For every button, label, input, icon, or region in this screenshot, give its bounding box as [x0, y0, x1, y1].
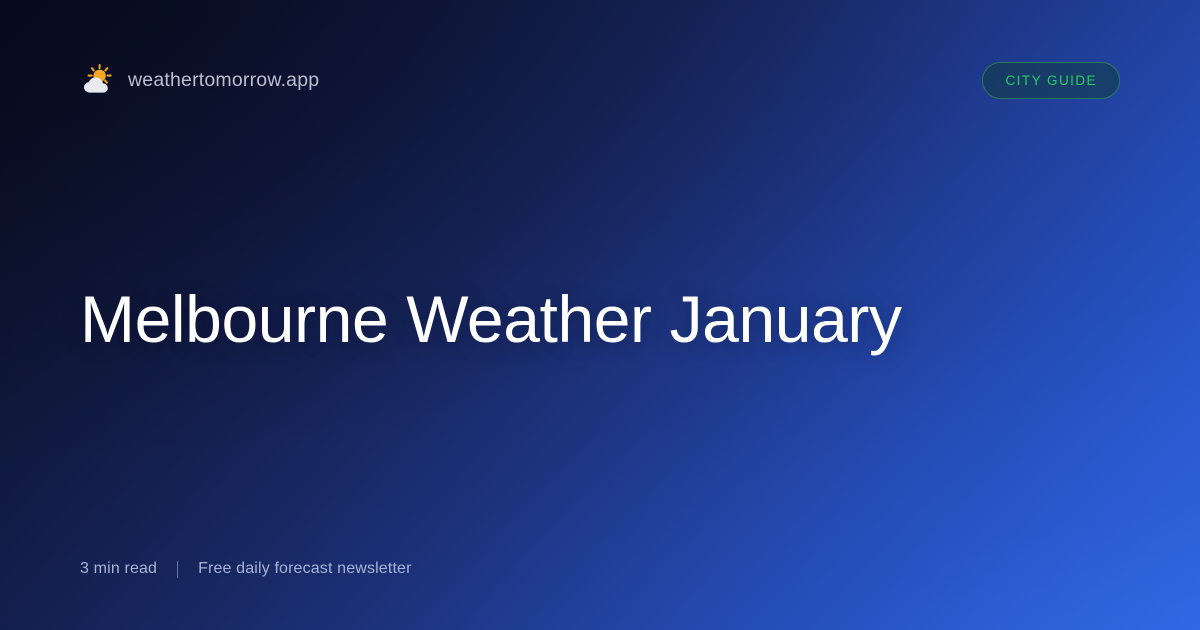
card-header: weathertomorrow.app CITY GUIDE — [80, 60, 1120, 100]
brand-lockup[interactable]: weathertomorrow.app — [80, 63, 319, 97]
og-share-card: weathertomorrow.app CITY GUIDE Melbourne… — [0, 0, 1200, 630]
newsletter-label: Free daily forecast newsletter — [198, 560, 411, 578]
sun-behind-cloud-icon — [80, 63, 114, 97]
footer-divider — [177, 561, 178, 578]
read-time-label: 3 min read — [80, 560, 157, 578]
brand-name: weathertomorrow.app — [128, 69, 319, 92]
page-title: Melbourne Weather January — [80, 283, 1080, 357]
category-badge[interactable]: CITY GUIDE — [982, 62, 1120, 99]
card-content: weathertomorrow.app CITY GUIDE Melbourne… — [0, 0, 1200, 630]
card-footer: 3 min read Free daily forecast newslette… — [80, 560, 412, 578]
